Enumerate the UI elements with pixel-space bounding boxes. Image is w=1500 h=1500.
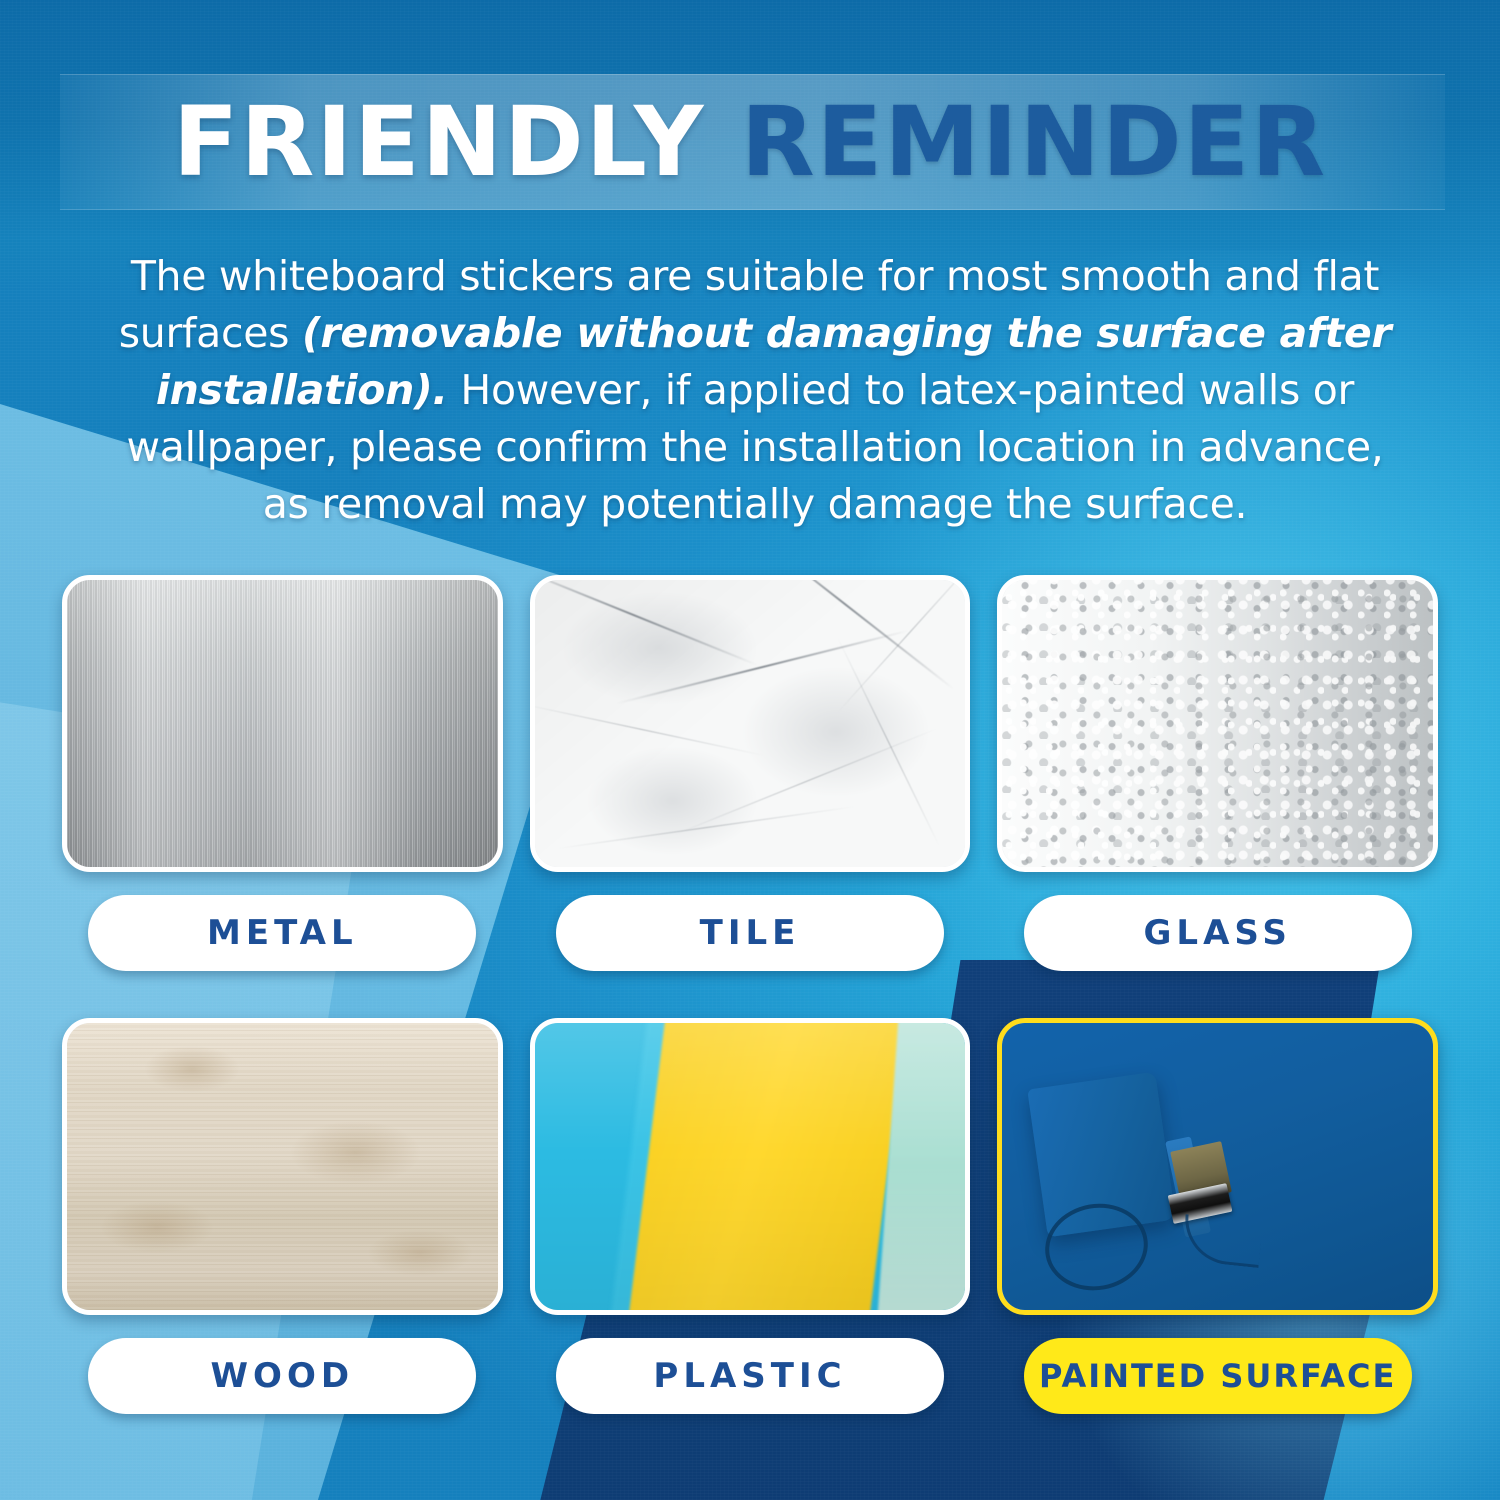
title-word-reminder: REMINDER	[741, 86, 1327, 198]
surface-card-painted-surface[interactable]: PAINTED SURFACE	[997, 1018, 1438, 1414]
surface-label-glass: GLASS	[1144, 913, 1292, 953]
marble-blotch	[561, 591, 759, 706]
surface-thumbnail-wood	[62, 1018, 503, 1315]
wood-knot	[291, 1121, 420, 1184]
surface-label-tile: TILE	[700, 913, 801, 953]
page-title: FRIENDLY REMINDER	[0, 76, 1500, 208]
surface-card-glass[interactable]: GLASS	[997, 575, 1438, 971]
surface-label-painted-surface: PAINTED SURFACE	[1039, 1357, 1396, 1395]
surface-thumbnail-painted-surface	[997, 1018, 1438, 1315]
surface-pill-wrap-painted-surface: PAINTED SURFACE	[997, 1338, 1438, 1414]
surface-pill-metal[interactable]: METAL	[88, 895, 476, 971]
surface-pill-wrap-metal: METAL	[62, 895, 503, 971]
surface-card-plastic[interactable]: PLASTIC	[530, 1018, 971, 1414]
surface-grid: METAL	[62, 575, 1438, 1414]
surface-pill-painted-surface[interactable]: PAINTED SURFACE	[1024, 1338, 1412, 1414]
title-word-friendly: FRIENDLY	[173, 86, 706, 198]
surface-pill-wrap-glass: GLASS	[997, 895, 1438, 971]
surface-card-metal[interactable]: METAL	[62, 575, 503, 971]
plastic-sheen	[535, 1023, 966, 1310]
surface-card-tile[interactable]: TILE	[530, 575, 971, 971]
surface-label-metal: METAL	[207, 913, 358, 953]
paint-drip-icon	[1181, 1214, 1263, 1268]
frosted-glass-texture	[1002, 580, 1433, 867]
surface-pill-plastic[interactable]: PLASTIC	[556, 1338, 944, 1414]
white-marble-texture	[535, 580, 966, 867]
body-paragraph: The whiteboard stickers are suitable for…	[110, 248, 1400, 533]
surface-thumbnail-tile	[530, 575, 971, 872]
surface-pill-tile[interactable]: TILE	[556, 895, 944, 971]
surface-grid-row-2: WOOD PLASTIC	[62, 1018, 1438, 1414]
paint-can-brush-photo	[1002, 1023, 1433, 1310]
surface-card-wood[interactable]: WOOD	[62, 1018, 503, 1414]
wood-knot	[101, 1201, 213, 1253]
surface-pill-wrap-tile: TILE	[530, 895, 971, 971]
marble-blotch	[586, 746, 758, 855]
surface-thumbnail-metal	[62, 575, 503, 872]
surface-label-wood: WOOD	[211, 1356, 355, 1396]
wood-knot	[368, 1230, 471, 1276]
light-oak-wood-texture	[67, 1023, 498, 1310]
surface-pill-glass[interactable]: GLASS	[1024, 895, 1412, 971]
surface-thumbnail-plastic	[530, 1018, 971, 1315]
infographic-page: FRIENDLY REMINDER The whiteboard sticker…	[0, 0, 1500, 1500]
surface-pill-wrap-wood: WOOD	[62, 1338, 503, 1414]
wood-knot	[145, 1046, 240, 1092]
surface-thumbnail-glass	[997, 575, 1438, 872]
brushed-metal-texture	[67, 580, 498, 867]
surface-label-plastic: PLASTIC	[653, 1356, 846, 1396]
surface-grid-row-1: METAL	[62, 575, 1438, 971]
surface-pill-wood[interactable]: WOOD	[88, 1338, 476, 1414]
surface-pill-wrap-plastic: PLASTIC	[530, 1338, 971, 1414]
marble-blotch	[741, 666, 930, 798]
colored-plastic-texture	[535, 1023, 966, 1310]
